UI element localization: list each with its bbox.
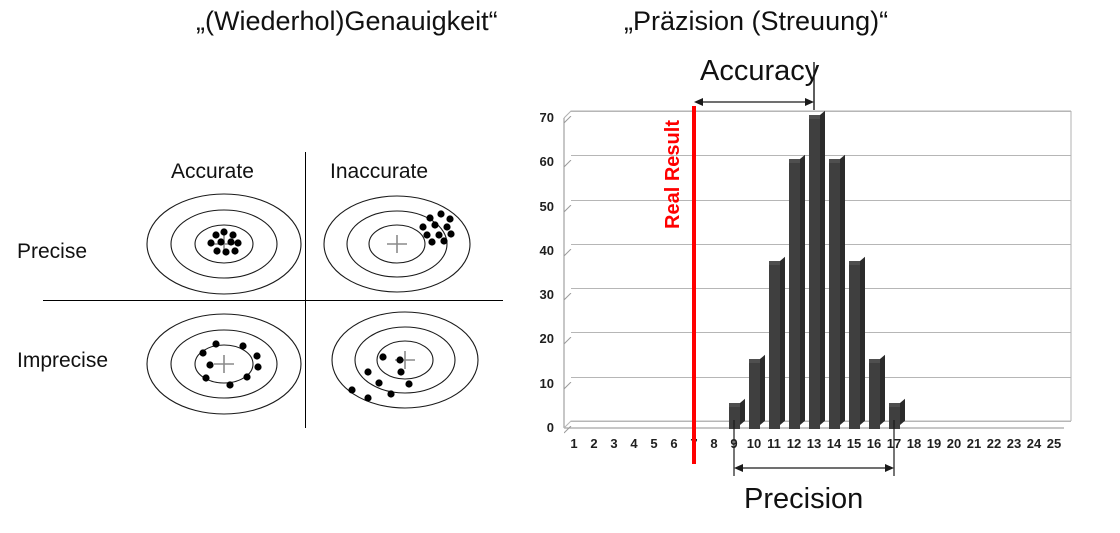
y-axis-tick-label: 20: [520, 331, 554, 346]
bar-top-face: [749, 359, 760, 363]
accuracy-arrow: [520, 110, 1120, 170]
y-axis-tick: [564, 200, 573, 208]
quadrant-vertical-divider: [305, 152, 306, 428]
quadrant-horizontal-divider: [43, 300, 503, 301]
quadrant-row-label-precise: Precise: [17, 240, 87, 264]
y-axis-tick-label: 10: [520, 376, 554, 391]
y-axis-tick-label: 40: [520, 243, 554, 258]
plot-area: 0102030405060701234567891011121314151617…: [520, 110, 1120, 485]
bar-top-face: [769, 261, 780, 265]
precision-accuracy-histogram: Accuracy Precision 010203040506070123456…: [520, 55, 1120, 533]
y-axis-tick: [564, 332, 573, 340]
target-dots: [348, 353, 412, 401]
target-inaccurate-precise: [322, 192, 482, 297]
histogram-bar: [789, 162, 800, 429]
target-accurate-imprecise: [144, 310, 304, 420]
target-dots: [207, 228, 241, 255]
bar-top-face: [849, 261, 860, 265]
target-accurate-precise: [144, 192, 304, 297]
histogram-bar: [829, 162, 840, 429]
quadrant-column-label-accurate: Accurate: [171, 160, 254, 184]
target-inaccurate-imprecise: [322, 310, 492, 430]
accuracy-precision-quadrant-diagram: Accurate Inaccurate Precise Imprecise: [10, 150, 490, 450]
y-axis-tick: [564, 377, 573, 385]
precision-arrow: [520, 398, 1120, 488]
left-panel-title: „(Wiederhol)Genauigkeit“: [196, 6, 498, 37]
bar-side-face: [840, 155, 845, 425]
y-axis-tick: [564, 288, 573, 296]
y-axis-tick-label: 50: [520, 199, 554, 214]
real-result-label: Real Result: [662, 120, 685, 229]
bar-side-face: [800, 155, 805, 425]
slide-root: „(Wiederhol)Genauigkeit“ „Präzision (Str…: [0, 0, 1120, 533]
y-axis-tick-label: 30: [520, 287, 554, 302]
y-axis-tick: [564, 244, 573, 252]
bar-top-face: [869, 359, 880, 363]
right-panel-title: „Präzision (Streuung)“: [624, 6, 888, 37]
quadrant-column-label-inaccurate: Inaccurate: [330, 160, 428, 184]
quadrant-row-label-imprecise: Imprecise: [17, 349, 108, 373]
